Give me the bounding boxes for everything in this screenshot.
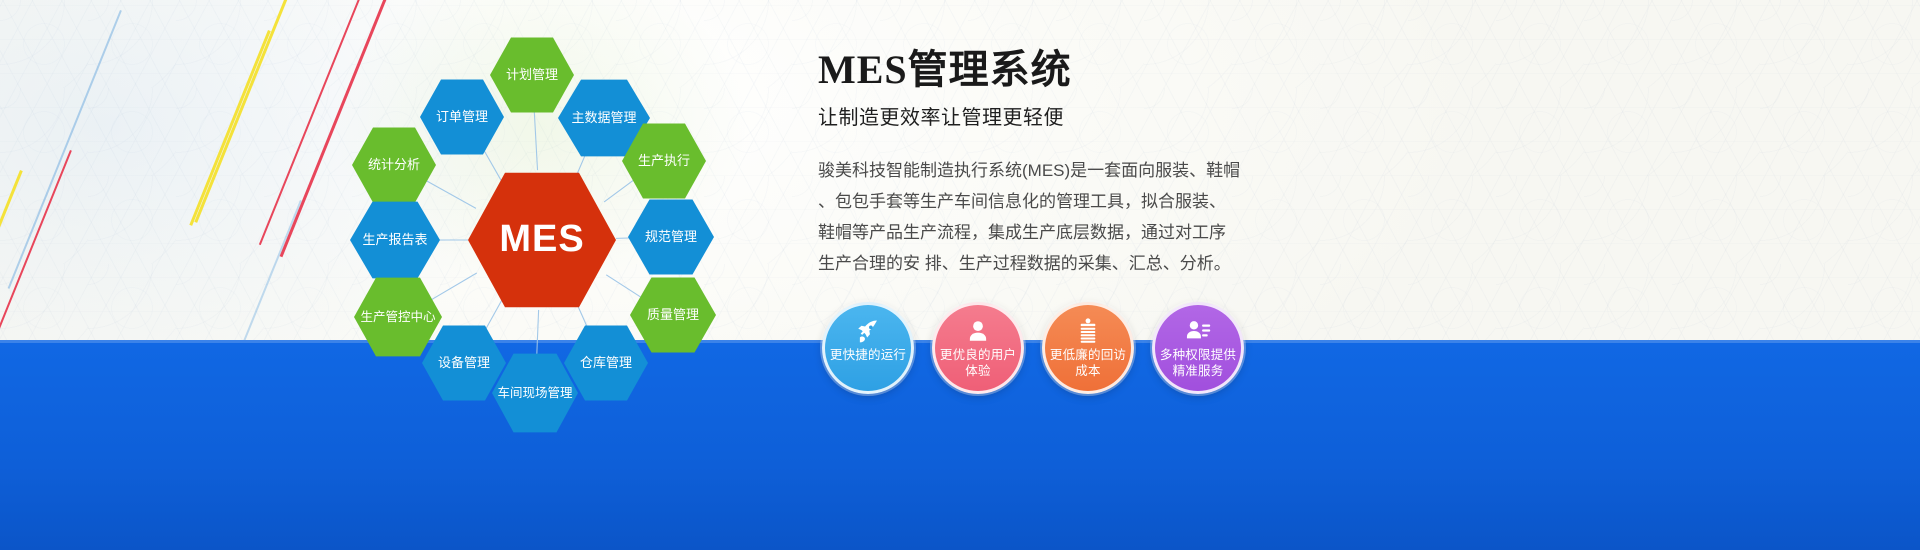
- description-paragraph: 骏美科技智能制造执行系统(MES)是一套面向服装、鞋帽、包包手套等生产车间信息化…: [818, 156, 1288, 280]
- feature-badge-label: 更快捷的运行: [826, 348, 910, 364]
- hex-node-label: 生产执行: [634, 154, 694, 169]
- description-line: 生产合理的安 排、生产过程数据的采集、汇总、分析。: [818, 249, 1288, 280]
- hex-node-label: 生产管控中心: [356, 310, 439, 324]
- feature-badge-4[interactable]: 多种权限提供精准服务: [1152, 302, 1244, 394]
- hex-node-label: 统计分析: [364, 158, 424, 173]
- feature-badge-2[interactable]: 更优良的用户体验: [932, 302, 1024, 394]
- hex-node-label: 仓库管理: [576, 356, 636, 371]
- feature-badge-1[interactable]: 更快捷的运行: [822, 302, 914, 394]
- feature-badge-row: 更快捷的运行更优良的用户体验更低廉的回访成本多种权限提供精准服务: [822, 302, 1302, 402]
- description-line: 鞋帽等产品生产流程，集成生产底层数据，通过对工序: [818, 218, 1288, 249]
- document-icon: [1075, 318, 1101, 344]
- feature-badge-3[interactable]: 更低廉的回访成本: [1042, 302, 1134, 394]
- description-line: 、包包手套等生产车间信息化的管理工具，拟合服装、: [818, 187, 1288, 218]
- hex-node-label: 主数据管理: [567, 111, 640, 126]
- permission-icon: [1185, 318, 1211, 344]
- user-icon: [965, 318, 991, 344]
- hex-node-label: 生产报告表: [358, 233, 431, 248]
- feature-badge-label: 多种权限提供精准服务: [1156, 348, 1240, 379]
- hex-node-label: 设备管理: [434, 356, 494, 371]
- hex-node-label: 计划管理: [502, 68, 562, 83]
- banner-text-column: MES管理系统 让制造更效率让管理更轻便 骏美科技智能制造执行系统(MES)是一…: [818, 48, 1288, 280]
- banner-stage: 计划管理订单管理主数据管理统计分析生产执行生产报告表规范管理生产管控中心质量管理…: [0, 0, 1920, 550]
- feature-badge-label: 更低廉的回访成本: [1046, 348, 1130, 379]
- mes-hexagon-diagram: 计划管理订单管理主数据管理统计分析生产执行生产报告表规范管理生产管控中心质量管理…: [340, 18, 770, 438]
- page-title: MES管理系统: [818, 48, 1288, 91]
- page-subtitle: 让制造更效率让管理更轻便: [818, 101, 1288, 130]
- hex-node-label: 质量管理: [643, 308, 703, 323]
- hex-node-label: 订单管理: [432, 110, 492, 125]
- hex-center-label: MES: [495, 218, 588, 262]
- feature-badge-label: 更优良的用户体验: [936, 348, 1020, 379]
- rocket-icon: [855, 318, 881, 344]
- hex-node-label: 车间现场管理: [493, 386, 576, 400]
- hex-node-label: 规范管理: [641, 230, 701, 245]
- description-line: 骏美科技智能制造执行系统(MES)是一套面向服装、鞋帽: [818, 156, 1288, 187]
